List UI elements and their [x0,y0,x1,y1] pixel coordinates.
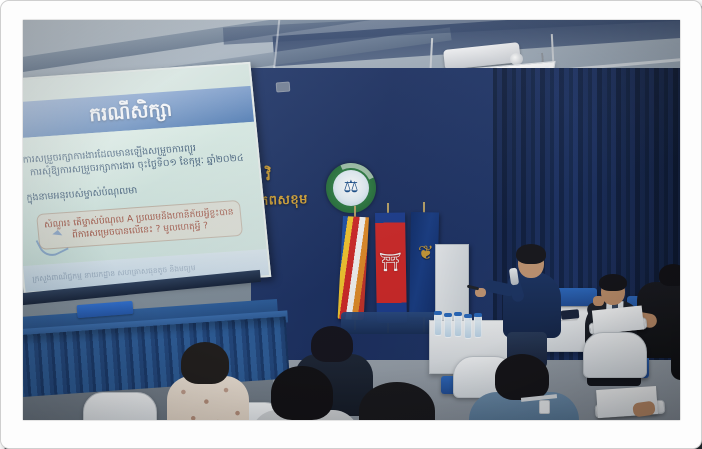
slide-question-callout: សំណួរ៖ តើម្ចាស់បំណុល A ប្រឈមនឹងហានិភ័យអ្… [36,200,243,250]
desk-phone [561,309,580,320]
framed-photo: វិ ភពសខុម ⚖ ⛩ ❦ ករណីសិក្សា ការសម្រួចរក្ស… [0,0,702,449]
bottle-cap [434,311,442,315]
backdrop-text-line-2: ភពសខុម [260,191,309,212]
navy-attendee-head [311,326,353,362]
white-chair [583,332,647,378]
presenter-hair [516,244,546,264]
bottle-cap [444,313,452,317]
water-bottle [464,317,472,339]
floral-attendee-head [181,342,229,384]
backdrop-text-line-1: វិ [266,166,272,188]
water-bottle [474,316,482,338]
bottle-cap [454,312,462,316]
bottle-cap [464,314,472,318]
water-bottle [454,315,462,337]
wall-vent [276,82,291,93]
projection-screen: ករណីសិក្សា ការសម្រួចរក្សាការងារដែលមានឡើង… [23,62,271,294]
angkor-temple-icon: ⛩ [379,252,401,274]
grey-attendee-head [271,366,333,420]
lanyard-attendee-head [495,354,549,400]
flag-crest-icon: ❦ [415,240,437,266]
white-chair [83,392,157,420]
official-hand [593,296,604,306]
attendee-far-right [671,320,680,380]
water-bottle [434,314,442,336]
water-bottle [444,316,452,338]
official-hair [599,274,627,291]
balance-scale-icon: ⚖ [342,177,360,197]
badge-card-icon [539,400,550,414]
notetaker-head [659,264,680,286]
photograph: វិ ភពសខុម ⚖ ⛩ ❦ ករណីសិក្សា ការសម្រួចរក្ស… [23,20,680,420]
buddhist-flag [338,216,369,320]
bottle-cap [474,313,482,317]
